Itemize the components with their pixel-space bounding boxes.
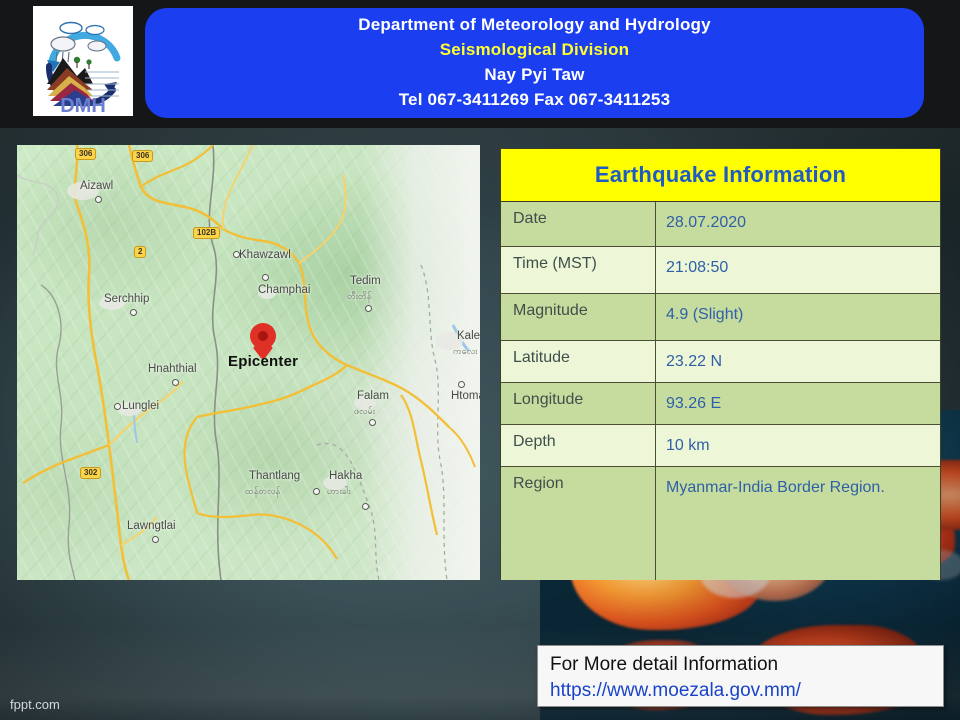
map-dot-lawngtlai [152,536,159,543]
table-label-date: Date [501,202,656,246]
map-road-shield-2: 2 [134,246,146,258]
map-place-champhai: Champhai [258,284,310,296]
table-value-longitude: 93.26 E [656,383,940,424]
table-value-latitude: 23.22 N [656,341,940,382]
map-place-falam-burmese: ဖလမ်း [354,406,375,419]
table-title: Earthquake Information [501,149,940,202]
table-label-magnitude: Magnitude [501,294,656,340]
table-label-time: Time (MST) [501,247,656,293]
map-place-lawngtlai: Lawngtlai [127,520,176,532]
banner-line-division: Seismological Division [440,39,630,62]
map-dot-serchhip [130,309,137,316]
table-label-longitude: Longitude [501,383,656,424]
map-place-falam: Falam [357,390,389,402]
table-label-region: Region [501,467,656,580]
epicenter-map[interactable]: Aizawl Serchhip Khawzawl Champhai Tedim … [17,145,480,580]
map-place-aizawl: Aizawl [80,180,113,192]
table-row: Region Myanmar-India Border Region. [501,467,940,580]
map-dot-lunglei [114,403,121,410]
map-place-htomar: Htomar [451,390,480,402]
banner-line-department: Department of Meteorology and Hydrology [358,14,711,37]
table-row: Latitude 23.22 N [501,341,940,383]
epicenter-label: Epicenter [228,353,298,370]
map-place-thantlang-burmese: ထန်တလန် [245,486,280,499]
map-dot-htomar [458,381,465,388]
map-road-shield-306a: 306 [75,148,96,160]
map-place-khawzawl: Khawzawl [239,249,291,261]
map-place-serchhip: Serchhip [104,293,149,305]
table-value-region: Myanmar-India Border Region. [656,467,940,580]
map-road-shield-102b: 102B [193,227,220,239]
more-information-link[interactable]: https://www.moezala.gov.mm/ [550,678,943,704]
watermark: fppt.com [10,697,60,712]
map-dot-khawzawl [233,251,240,258]
table-label-latitude: Latitude [501,341,656,382]
map-place-tedim: Tedim [350,275,381,287]
banner-line-city: Nay Pyi Taw [484,64,584,87]
map-place-tedim-burmese: တီးတိန် [347,291,371,304]
earthquake-information-table: Earthquake Information Date 28.07.2020 T… [500,148,941,580]
map-dot-hnahthial [172,379,179,386]
svg-text:DMH: DMH [60,95,106,116]
table-label-depth: Depth [501,425,656,466]
map-place-hakha-burmese: ဟားခါး [327,486,351,499]
map-road-shield-306b: 306 [132,150,153,162]
table-value-date: 28.07.2020 [656,202,940,246]
map-road-shield-302: 302 [80,467,101,479]
map-place-kale: Kale [457,330,480,342]
map-dot-thantlang [313,488,320,495]
map-place-hakha: Hakha [329,470,362,482]
dmh-logo: DMH [33,6,133,116]
map-dot-tedim [365,305,372,312]
map-dot-champhai [262,274,269,281]
map-dot-hakha [362,503,369,510]
table-row: Depth 10 km [501,425,940,467]
epicenter-marker[interactable] [250,323,276,357]
table-row: Longitude 93.26 E [501,383,940,425]
table-value-magnitude: 4.9 (Slight) [656,294,940,340]
table-value-depth: 10 km [656,425,940,466]
more-information-box[interactable]: For More detail Information https://www.… [537,645,944,707]
map-place-lunglei: Lunglei [122,400,159,412]
map-place-thantlang: Thantlang [249,470,300,482]
map-place-kale-burmese: ကလေး [453,346,477,359]
table-row: Time (MST) 21:08:50 [501,247,940,294]
banner-line-contact: Tel 067-3411269 Fax 067-3411253 [399,89,671,112]
table-value-time: 21:08:50 [656,247,940,293]
header-banner: Department of Meteorology and Hydrology … [145,8,924,118]
slide-stage: DMH Department of Meteorology and Hydrol… [0,0,960,720]
table-row: Date 28.07.2020 [501,202,940,247]
hydrological-cycle-icon: DMH [33,6,133,116]
more-information-text: For More detail Information [550,652,943,678]
map-place-hnahthial: Hnahthial [148,363,197,375]
table-row: Magnitude 4.9 (Slight) [501,294,940,341]
map-dot-falam [369,419,376,426]
map-dot-aizawl [95,196,102,203]
